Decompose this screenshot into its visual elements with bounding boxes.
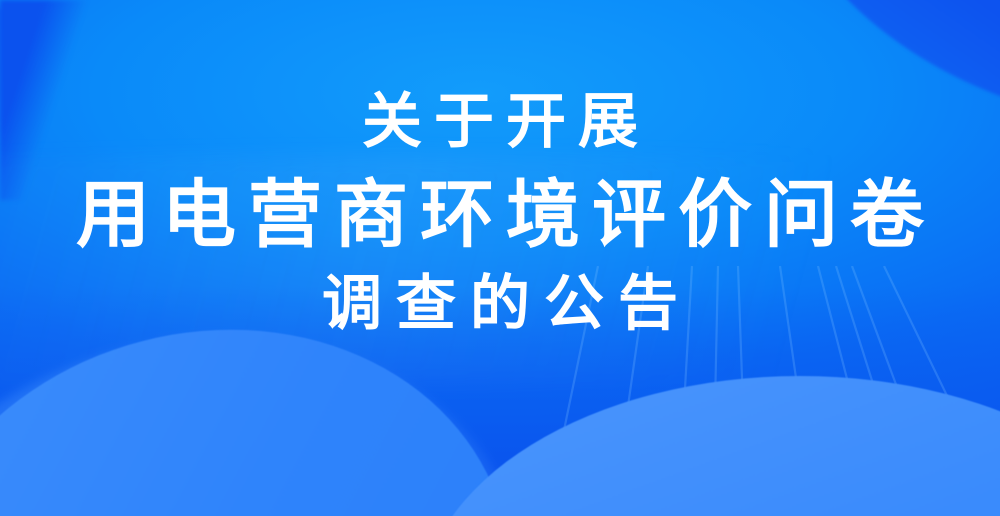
banner-title-line-3: 调查的公告 — [308, 274, 692, 334]
banner-title-line-1: 关于开展 — [350, 92, 650, 152]
banner-title-block: 关于开展 用电营商环境评价问卷 调查的公告 — [0, 0, 1000, 516]
notice-banner: 关于开展 用电营商环境评价问卷 调查的公告 — [0, 0, 1000, 516]
banner-title-line-2: 用电营商环境评价问卷 — [64, 178, 936, 252]
